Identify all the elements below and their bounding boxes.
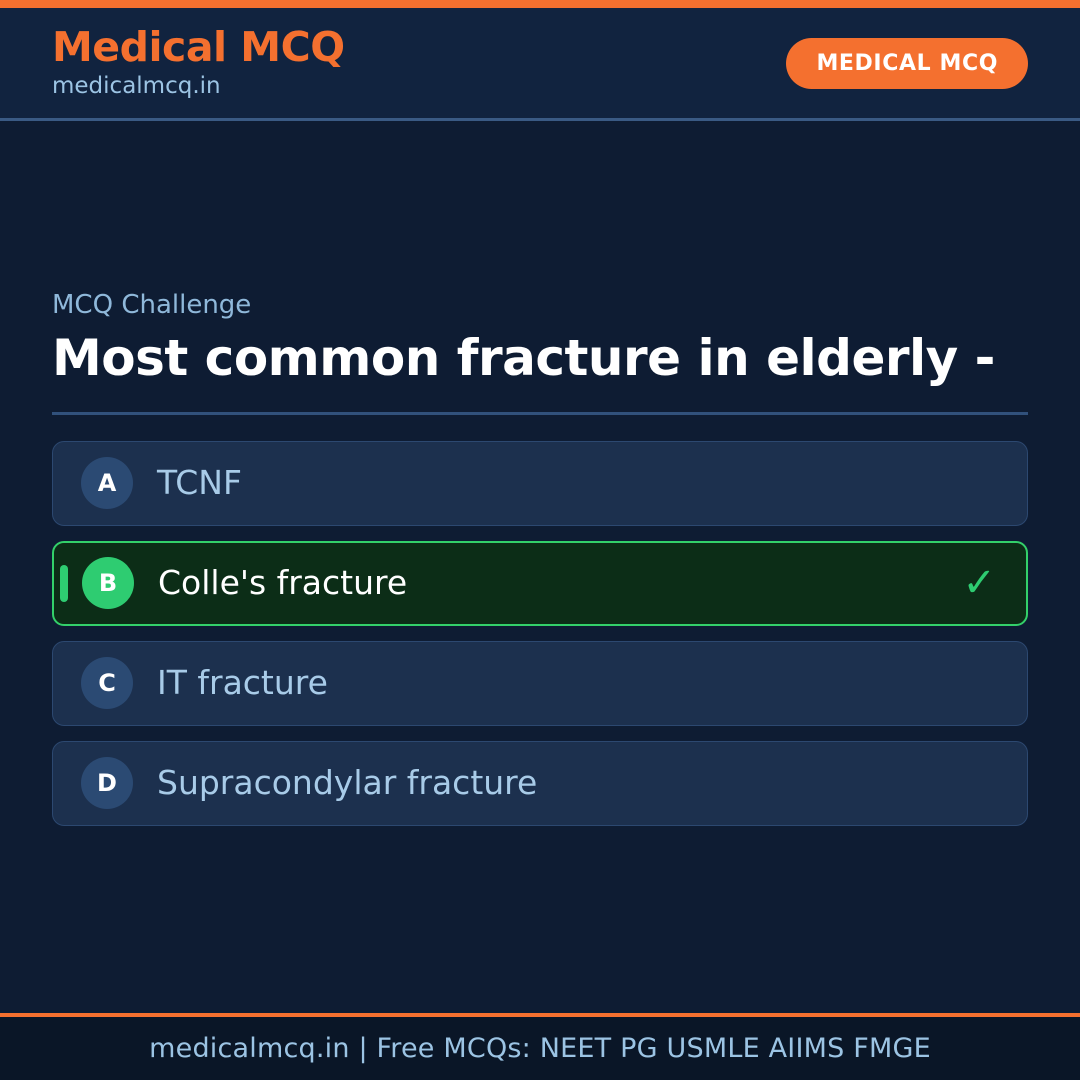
option-b-letter: B	[82, 557, 134, 609]
option-b-label: Colle's fracture	[158, 563, 962, 603]
option-b[interactable]: B Colle's fracture ✓	[52, 541, 1028, 626]
brand-block: Medical MCQ medicalmcq.in	[52, 26, 345, 101]
option-c[interactable]: C IT fracture	[52, 641, 1028, 726]
option-c-letter: C	[81, 657, 133, 709]
option-d[interactable]: D Supracondylar fracture	[52, 741, 1028, 826]
options-list: A TCNF B Colle's fracture ✓ C IT fractur…	[52, 441, 1028, 826]
question-panel: MCQ Challenge Most common fracture in el…	[52, 290, 1028, 825]
kicker-label: MCQ Challenge	[52, 290, 1028, 321]
top-accent-rule	[0, 0, 1080, 8]
footer-bar: medicalmcq.in | Free MCQs: NEET PG USMLE…	[0, 1017, 1080, 1080]
correct-accent-bar	[60, 565, 68, 602]
mcq-slide: Medical MCQ medicalmcq.in MEDICAL MCQ MC…	[0, 0, 1080, 1080]
header-bar: Medical MCQ medicalmcq.in MEDICAL MCQ	[0, 8, 1080, 121]
question-divider	[52, 412, 1028, 415]
brand-title: Medical MCQ	[52, 26, 345, 69]
main-content: MCQ Challenge Most common fracture in el…	[0, 121, 1080, 1013]
check-icon: ✓	[962, 563, 996, 603]
footer-text: medicalmcq.in | Free MCQs: NEET PG USMLE…	[149, 1033, 931, 1064]
brand-site-url: medicalmcq.in	[52, 72, 345, 101]
option-a[interactable]: A TCNF	[52, 441, 1028, 526]
option-d-label: Supracondylar fracture	[157, 763, 997, 803]
option-c-label: IT fracture	[157, 663, 997, 703]
header-badge: MEDICAL MCQ	[786, 38, 1028, 89]
option-d-letter: D	[81, 757, 133, 809]
option-a-label: TCNF	[157, 463, 997, 503]
question-text: Most common fracture in elderly -	[52, 330, 1028, 386]
option-a-letter: A	[81, 457, 133, 509]
